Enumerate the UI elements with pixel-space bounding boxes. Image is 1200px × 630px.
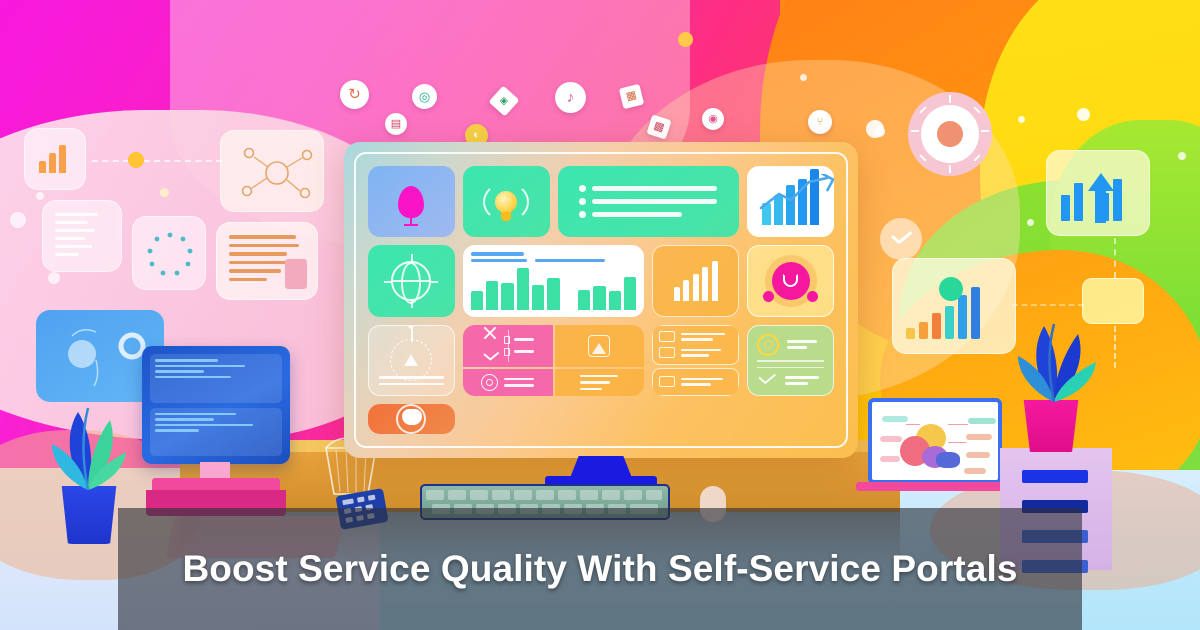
bg-dot-1: [36, 192, 44, 200]
bg-dot-5: [678, 32, 693, 47]
left-monitor-panel-bottom: [150, 408, 282, 457]
resolution-bars-tile[interactable]: [652, 245, 739, 316]
monitor-neck: [570, 456, 632, 478]
bg-dot-12: [866, 120, 884, 138]
connector-dot: [128, 152, 144, 168]
alert-gauge-tile[interactable]: [368, 325, 455, 396]
left-monitor: [142, 346, 290, 464]
network-graph-widget: [220, 130, 324, 212]
cabinet-drawer-1: [1022, 470, 1088, 483]
ascending-bars-icon: [674, 261, 718, 301]
potted-plant-right-leaves: [1000, 304, 1112, 406]
laptop-mindmap: [868, 398, 1002, 484]
global-reach-tile[interactable]: [368, 245, 455, 316]
right-connector-v2: [1114, 326, 1116, 368]
bg-dot-11: [1178, 152, 1186, 160]
calendar-icon: ▤: [385, 113, 407, 135]
laptop-base: [856, 482, 1014, 491]
sla-timer-card[interactable]: [747, 325, 834, 396]
bar-chart-up-arrow-icon: [1088, 173, 1114, 191]
filter-icon: ⑂: [808, 110, 832, 134]
caption-overlay: Boost Service Quality With Self-Service …: [118, 508, 1082, 630]
user-profile-tile[interactable]: [368, 166, 455, 237]
ticket-volume-chart: [463, 245, 645, 316]
plant-icon: [30, 386, 150, 494]
uptrend-bar-card: [1046, 150, 1150, 236]
target-icon: ◉: [702, 108, 724, 130]
bg-dot-3: [160, 188, 169, 197]
growth-chart-card[interactable]: [747, 166, 834, 237]
poster-canvas: ↻ ◎ ◈ ♪ ▦ ▤ ◐ ▩ ◉ ⑂: [0, 0, 1200, 630]
bg-dot-4: [48, 272, 60, 284]
alert-gauge-lines: [379, 376, 443, 385]
document-alert-icon: [555, 325, 645, 367]
ticket-volume-card[interactable]: [463, 245, 645, 316]
bg-dot-8: [1077, 108, 1090, 121]
loading-dots-widget: [132, 216, 206, 290]
growth-chart: [747, 166, 834, 237]
text-lines-row: [555, 369, 645, 396]
status-dot-left: [763, 291, 774, 302]
avatar-ring-icon: [772, 262, 810, 300]
globe-target-icon: [391, 261, 431, 301]
bar-chart-widget: [24, 128, 86, 190]
green-circle-marker: [939, 277, 963, 301]
bg-dot-2: [10, 212, 26, 228]
bg-dot-7: [800, 74, 807, 81]
check-circle-icon: [890, 231, 912, 247]
left-monitor-panel-top: [150, 354, 282, 403]
knowledge-list-tile[interactable]: [558, 166, 740, 237]
resolution-row: [463, 369, 553, 396]
bullet-list-icon: [579, 185, 717, 218]
network-graph-icon: [221, 131, 325, 213]
person-bird-icon: [398, 186, 424, 218]
routing-rules-tile[interactable]: [463, 325, 645, 396]
smiley-face-icon: [396, 404, 426, 434]
up-arrow-stem: [1095, 190, 1106, 223]
trend-up-arrow: [757, 174, 834, 214]
document-widget: [216, 222, 318, 300]
satisfaction-tile[interactable]: [368, 404, 455, 434]
bg-dot-10: [1027, 219, 1034, 226]
article-list-tile[interactable]: [652, 325, 739, 396]
agent-status-tile[interactable]: [747, 245, 834, 316]
plant-icon: [1000, 304, 1112, 406]
list-thumbnails-icon: [652, 325, 739, 396]
page-title: Boost Service Quality With Self-Service …: [182, 548, 1017, 590]
bg-dot-9: [1018, 116, 1025, 123]
potted-plant-right-pot: [1020, 400, 1082, 452]
self-service-portal-dashboard[interactable]: [344, 142, 858, 458]
multicolor-bar-card: [892, 258, 1016, 354]
text-lines-widget: [42, 200, 122, 272]
refresh-icon: ↻: [340, 80, 369, 109]
cross-check-list-icon: [463, 325, 553, 367]
connector-line: [92, 160, 222, 162]
check-badge: [880, 218, 922, 260]
right-connector-v: [1114, 238, 1116, 278]
music-note-icon: ♪: [555, 82, 586, 113]
insights-tile[interactable]: [463, 166, 550, 237]
circle-icon: ◎: [412, 84, 437, 109]
timer-check-icon: [748, 326, 833, 395]
potted-plant-left-pot: [58, 486, 120, 544]
potted-plant-left-leaves: [30, 386, 150, 494]
circular-dots-icon: [133, 217, 207, 291]
status-dot-right: [807, 291, 818, 302]
lightbulb-icon: [495, 191, 517, 213]
gauge-dial: [908, 92, 992, 176]
